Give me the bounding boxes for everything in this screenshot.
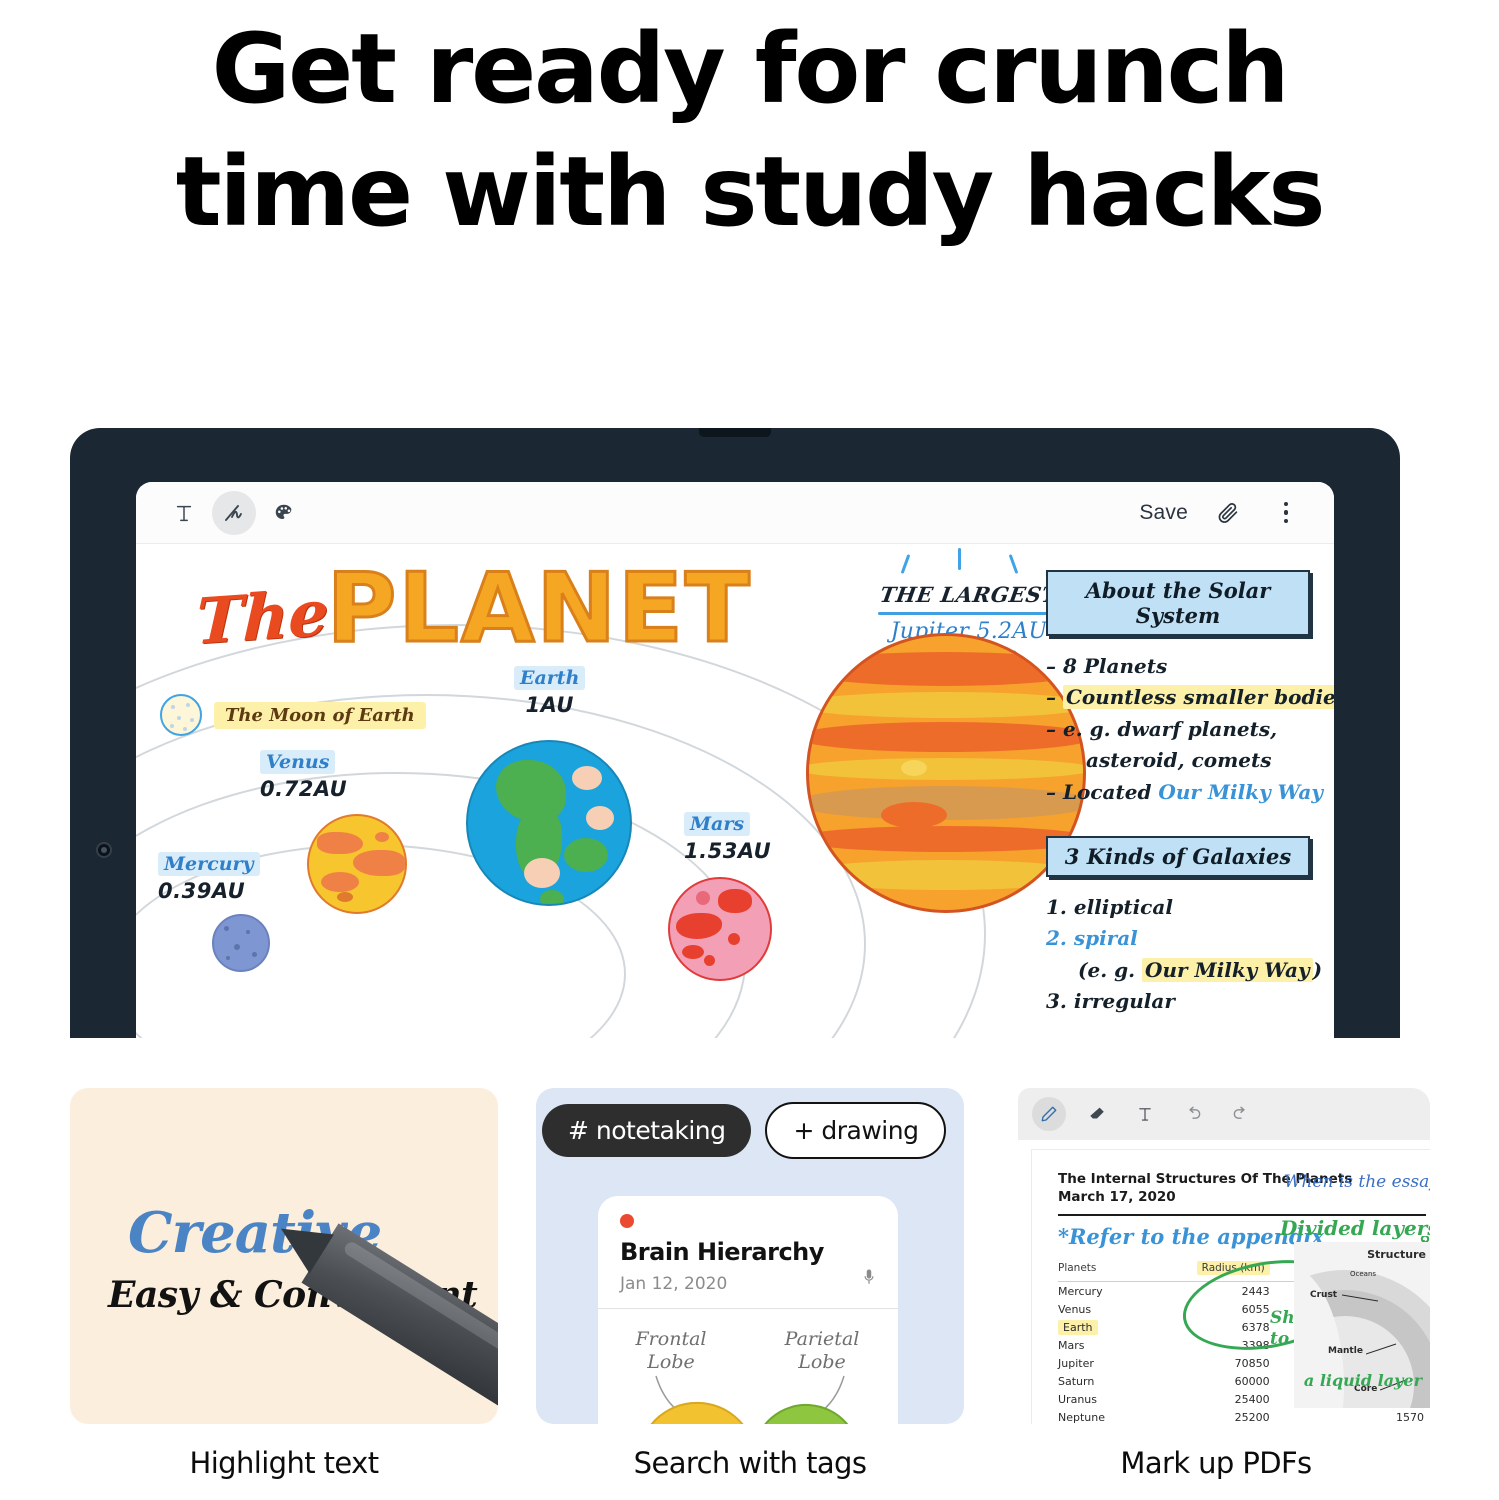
moon-label: The Moon of Earth (214, 702, 426, 729)
note-block-1-list: – 8 Planets – Countless smaller bodies –… (1046, 652, 1310, 806)
pen-tool-button[interactable] (212, 491, 256, 535)
note-highlighted-text: Our Milky Way (1142, 958, 1313, 982)
note-list-item: (e. g. Our Milky Way) (1046, 956, 1310, 984)
attachment-icon[interactable] (1206, 491, 1250, 535)
note-item-close: ) (1313, 958, 1322, 982)
notes-app-toolbar: Save (136, 482, 1334, 544)
search-tags-preview: # notetaking + drawing Brain Hierarchy J… (536, 1088, 964, 1424)
note-item-prefix: – Located (1046, 780, 1158, 804)
toolbar-actions-group: Save (1139, 491, 1308, 535)
structure-mantle-leader (1366, 1342, 1400, 1356)
tablet-front-camera-icon (96, 842, 112, 858)
cell-planet-earth-text: Earth (1058, 1320, 1098, 1335)
planet-mercury-illustration (212, 914, 270, 972)
structure-oceans-label: Oceans (1350, 1270, 1376, 1278)
structure-mantle-label: Mantle (1328, 1346, 1363, 1356)
largest-label: THE LARGEST (876, 582, 1062, 607)
page-headline: Get ready for crunch time with study hac… (0, 8, 1499, 254)
moon-annotation: The Moon of Earth (160, 694, 426, 736)
cell-planet: Uranus (1058, 1390, 1141, 1408)
annotation-liquid-layer: a liquid layer (1304, 1371, 1422, 1390)
palette-tool-button[interactable] (262, 491, 306, 535)
annotation-essay-deadline: When is the essay dead (1284, 1172, 1430, 1192)
card-caption-search-tags: Search with tags (536, 1446, 964, 1480)
cell-planet: Saturn (1058, 1372, 1141, 1390)
frontal-lobe-label: Frontal Lobe (616, 1328, 726, 1374)
note-list-item: – 8 Planets (1046, 652, 1310, 680)
note-preview-title: Brain Hierarchy (620, 1238, 824, 1266)
note-title-the: The (195, 584, 330, 653)
note-status-dot (620, 1214, 634, 1228)
table-row: Neptune252001570 (1058, 1408, 1424, 1424)
cell-radius: 70850 (1141, 1354, 1270, 1372)
cell-radius: 60000 (1141, 1372, 1270, 1390)
cell-planet: Jupiter (1058, 1354, 1141, 1372)
microphone-icon[interactable] (860, 1268, 878, 1291)
feature-card-markup-pdfs: The Internal Structures Of The Planets M… (1002, 1088, 1430, 1480)
note-list-item: asteroid, comets (1046, 746, 1310, 774)
save-button[interactable]: Save (1139, 501, 1192, 525)
note-block-2-list: 1. elliptical 2. spiral (e. g. Our Milky… (1046, 893, 1310, 1016)
structure-title: Structure (1367, 1248, 1426, 1261)
planet-distance-mercury: 0.39AU (158, 879, 260, 903)
planet-earth-illustration (466, 740, 632, 906)
tag-pill-notetaking[interactable]: # notetaking (542, 1104, 751, 1157)
note-preview-card[interactable]: Brain Hierarchy Jan 12, 2020 Frontal Lob… (598, 1196, 898, 1424)
largest-underline (878, 612, 1060, 615)
note-list-item: 3. irregular (1046, 987, 1310, 1015)
planet-label-mercury: Mercury 0.39AU (158, 852, 260, 903)
feature-card-highlight-text: Creative Easy & Convenient Highlight tex… (70, 1088, 498, 1480)
note-dash: – (1046, 685, 1056, 709)
planet-label-mars: Mars 1.53AU (684, 812, 771, 863)
note-highlighted-text: Countless smaller bodies (1063, 685, 1334, 709)
sparkle-mark (1009, 554, 1019, 574)
cell-planet: Mercury (1058, 1282, 1141, 1301)
note-list-item: 2. spiral (1046, 924, 1310, 952)
pdf-redo-icon[interactable] (1224, 1097, 1258, 1131)
note-list-item: – Countless smaller bodies (1046, 683, 1310, 711)
planet-venus-illustration (307, 814, 407, 914)
pdf-text-icon[interactable] (1128, 1097, 1162, 1131)
cell-planet: Neptune (1058, 1408, 1141, 1424)
sparkle-mark (958, 548, 961, 570)
card-caption-markup-pdfs: Mark up PDFs (1002, 1446, 1430, 1480)
structure-crust-leader (1342, 1290, 1382, 1304)
pdf-document-page: The Internal Structures Of The Planets M… (1032, 1150, 1430, 1424)
planet-name-mercury: Mercury (158, 852, 260, 876)
cell-planet: Venus (1058, 1300, 1141, 1318)
frontal-lobe-line-1: Frontal (616, 1328, 726, 1351)
tablet-device: Save The PLANET (70, 428, 1400, 1038)
note-item-link: Our Milky Way (1158, 780, 1323, 804)
feature-card-search-tags: # notetaking + drawing Brain Hierarchy J… (536, 1088, 964, 1480)
frontal-lobe-line-2: Lobe (616, 1351, 726, 1374)
planet-label-venus: Venus 0.72AU (260, 750, 347, 801)
note-canvas: The PLANET THE LARGEST Jupiter 5.2AU (136, 544, 1334, 1038)
planet-distance-mars: 1.53AU (684, 839, 771, 863)
headline-line-2: time with study hacks (0, 131, 1499, 254)
note-list-item: 1. elliptical (1046, 893, 1310, 921)
note-item-open: (e. g. (1078, 958, 1142, 982)
planet-name-venus: Venus (260, 750, 335, 774)
tablet-screen: Save The PLANET (136, 482, 1334, 1038)
cell-radius: 25400 (1141, 1390, 1270, 1408)
note-divider (598, 1308, 898, 1309)
parietal-lobe-label: Parietal Lobe (764, 1328, 880, 1374)
tag-pills-row: # notetaking + drawing (542, 1102, 946, 1159)
more-options-icon[interactable] (1264, 491, 1308, 535)
markup-pdf-preview: The Internal Structures Of The Planets M… (1002, 1088, 1430, 1424)
cell-planet-earth: Earth (1058, 1318, 1141, 1336)
planet-distance-earth: 1AU (514, 693, 585, 717)
pdf-toolbar (1018, 1088, 1430, 1140)
sparkle-mark (901, 554, 911, 574)
planet-jupiter-illustration (806, 633, 1086, 913)
parietal-lobe-line-1: Parietal (764, 1328, 880, 1351)
note-preview-date: Jan 12, 2020 (620, 1274, 727, 1294)
notes-column: About the Solar System – 8 Planets – Cou… (1046, 570, 1310, 1019)
text-tool-button[interactable] (162, 491, 206, 535)
tag-pill-drawing[interactable]: + drawing (765, 1102, 946, 1159)
headline-line-1: Get ready for crunch (0, 8, 1499, 131)
highlight-text-preview: Creative Easy & Convenient (70, 1088, 498, 1424)
more-vertical-icon (1284, 502, 1289, 524)
note-list-item: – Located Our Milky Way (1046, 778, 1310, 806)
pdf-pen-icon[interactable] (1032, 1097, 1066, 1131)
planet-label-earth: Earth 1AU (514, 666, 585, 717)
note-list-item: – e. g. dwarf planets, (1046, 715, 1310, 743)
note-block-1-heading: About the Solar System (1046, 570, 1310, 636)
cell-density: 1570 (1270, 1408, 1424, 1424)
cell-planet: Mars (1058, 1336, 1141, 1354)
planet-name-mars: Mars (684, 812, 750, 836)
note-title-planet: PLANET (327, 564, 752, 654)
s-pen-stylus-icon (301, 1223, 498, 1424)
note-block-2-heading: 3 Kinds of Galaxies (1046, 836, 1310, 877)
planet-name-earth: Earth (514, 666, 585, 690)
moon-illustration (160, 694, 202, 736)
structure-crust-label: Crust (1310, 1290, 1337, 1300)
parietal-lobe-line-2: Lobe (764, 1351, 880, 1374)
pdf-undo-icon[interactable] (1176, 1097, 1210, 1131)
cell-radius: 25200 (1141, 1408, 1270, 1424)
toolbar-tools-group (162, 491, 306, 535)
note-title: The PLANET (196, 564, 752, 648)
planet-mars-illustration (668, 877, 772, 981)
planet-distance-venus: 0.72AU (260, 777, 347, 801)
tablet-top-speaker (699, 428, 771, 437)
feature-cards-row: Creative Easy & Convenient Highlight tex… (70, 1088, 1430, 1480)
pdf-eraser-icon[interactable] (1080, 1097, 1114, 1131)
card-caption-highlight-text: Highlight text (70, 1446, 498, 1480)
col-planets: Planets (1058, 1259, 1141, 1282)
